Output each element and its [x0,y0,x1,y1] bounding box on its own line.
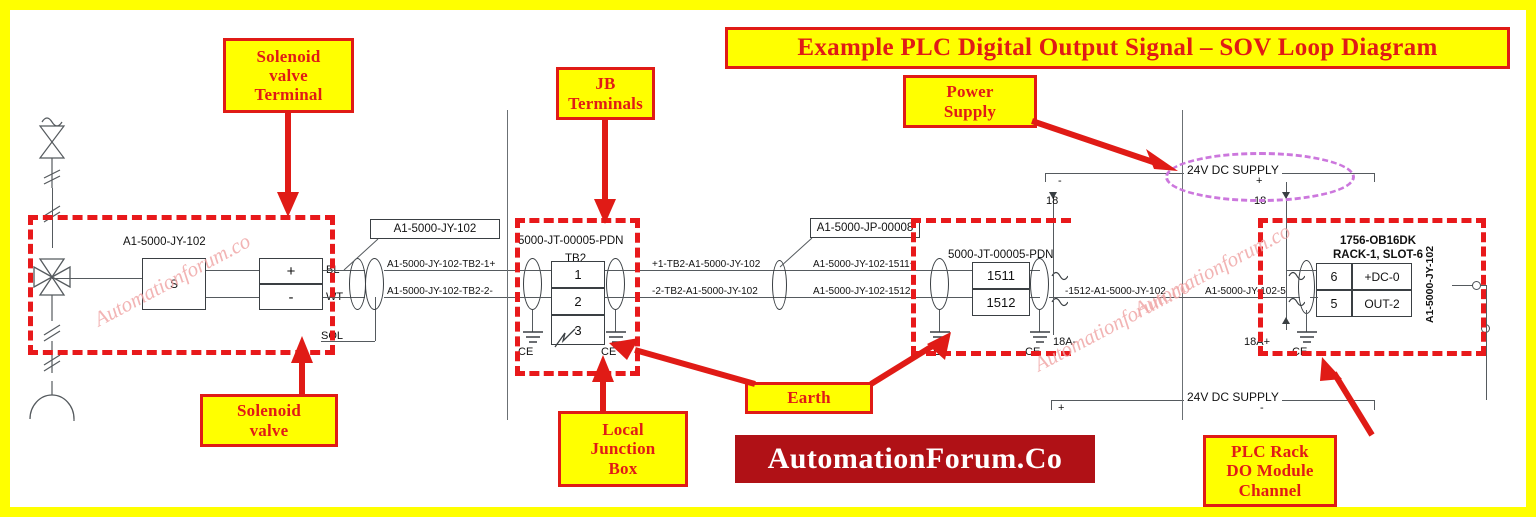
cable-2-core-2-left-label: -2-TB2-A1-5000-JY-102 [652,287,758,297]
cable-2-core-1-left-label: +1-TB2-A1-5000-JY-102 [652,260,760,270]
callout-plc-rack: PLC Rack DO Module Channel [1203,435,1337,507]
power-supply-top-left-polarity: - [1058,176,1062,187]
leader-power-supply [1030,105,1180,175]
callout-local-junction-box: Local Junction Box [558,411,688,487]
leader-plc-rack [1310,355,1380,441]
cable-1-leader-line [342,238,392,272]
valve-dome-icon [24,373,90,421]
leader-solenoid-valve [299,362,305,396]
cable-1-core-2-label: A1-5000-JY-102-TB2-2- [387,287,493,297]
arrowhead-solenoid-terminal-icon [276,192,300,218]
cable-2-leader-line [774,237,816,269]
diagram-title: Example PLC Digital Output Signal – SOV … [725,27,1510,69]
valve-actuator-icon [32,108,82,203]
power-supply-bottom-rail-label: 24V DC SUPPLY [1184,391,1282,403]
leader-earth-left [605,332,765,392]
cable-2-core-1-right-label: A1-5000-JY-102-1511+ [813,260,916,270]
cable-1-tag: A1-5000-JY-102 [370,219,500,239]
drawing-sheet: Example PLC Digital Output Signal – SOV … [10,10,1526,507]
callout-jb-terminals: JB Terminals [556,67,655,120]
cable-2-tag: A1-5000-JP-00008 [810,218,920,238]
cable-2-core-2-right-label: A1-5000-JY-102-1512- [813,287,914,297]
callout-solenoid-valve: Solenoid valve [200,394,338,447]
power-supply-bottom-right-polarity: - [1260,403,1264,414]
highlight-power-supply-ellipse [1165,152,1355,202]
arrowhead-solenoid-valve-icon [290,336,314,364]
power-supply-top-left-value: 18 [1046,196,1058,207]
callout-solenoid-valve-terminal: Solenoid valve Terminal [223,38,354,113]
arrowhead-jb-terminals-icon [593,199,617,225]
leader-earth-right [865,326,955,390]
leader-solenoid-terminal [285,113,291,198]
power-supply-bottom-left-polarity: + [1058,403,1064,414]
leader-jb-terminals [602,120,608,205]
site-logo: AutomationForum.Co [735,435,1095,483]
callout-power-supply: Power Supply [903,75,1037,128]
cable-1-core-1-label: A1-5000-JY-102-TB2-1+ [387,260,495,270]
